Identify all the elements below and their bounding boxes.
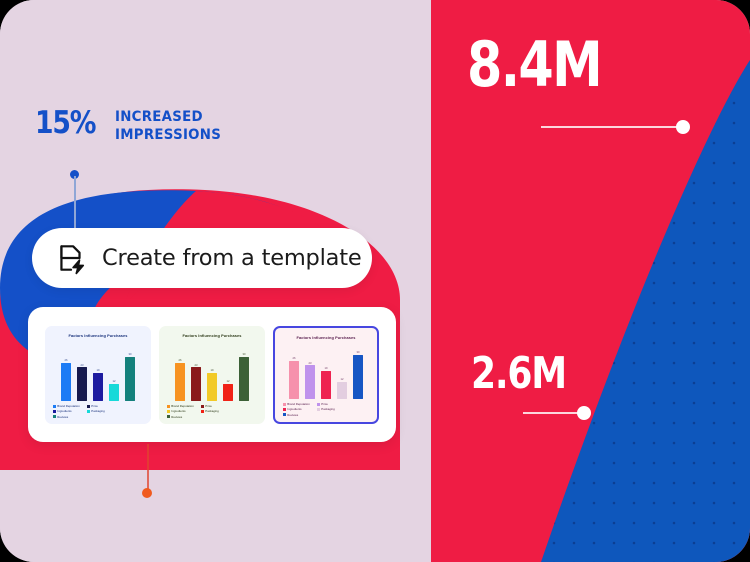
chart-legend-label: Brand Reputation [57, 404, 80, 408]
metric-bottom-value: 2.6M [471, 352, 566, 396]
chart-legend-swatch [283, 408, 286, 411]
chart-legend-swatch [53, 410, 56, 413]
stat-increased-impressions: 15% INCREASED IMPRESSIONS [35, 108, 230, 145]
chart-legend-item: Ingredients [53, 409, 84, 413]
chart-bar-value-label: 26 [179, 359, 182, 362]
chart-legend-item: Packaging [317, 407, 348, 411]
metric-top-connector-line [541, 126, 681, 128]
template-card-chart: 2623191230 [50, 341, 146, 402]
chart-legend-label: Packaging [205, 409, 219, 413]
chart-legend-item: Price [201, 404, 232, 408]
template-card-title: Factors Influencing Purchases [164, 333, 260, 338]
chart-bar [109, 384, 120, 402]
chart-bar [191, 367, 202, 401]
template-card[interactable]: Factors Influencing Purchases 2623191230… [45, 326, 151, 424]
chart-bar [207, 373, 218, 401]
chart-legend-label: Price [205, 404, 212, 408]
chart-legend-label: Brand Reputation [287, 402, 310, 406]
chart-bar-value-label: 23 [309, 362, 312, 365]
chart-bar [223, 384, 234, 402]
metric-bottom-connector-line [523, 412, 583, 414]
template-card-title: Factors Influencing Purchases [280, 335, 372, 340]
chart-legend-label: Ingredients [171, 409, 185, 413]
card-pin-line [147, 444, 149, 492]
template-card-title: Factors Influencing Purchases [50, 333, 146, 338]
stat-pin-line [74, 176, 76, 234]
chart-legend-label: Packaging [91, 409, 105, 413]
chart-bar-value-label: 19 [97, 369, 100, 372]
chart-legend-label: Reviews [57, 415, 68, 419]
chart-legend-item: Packaging [201, 409, 232, 413]
chart-bar-group: 12 [109, 341, 120, 402]
chart-bar-group: 19 [321, 343, 332, 400]
chart-legend-swatch [87, 405, 90, 408]
right-panel: 8.4M 2.6M [431, 0, 750, 562]
chart-legend-item: Brand Reputation [53, 404, 84, 408]
chart-bar-group: 19 [93, 341, 104, 402]
chart-legend-item: Reviews [283, 413, 314, 417]
chart-bar-group: 23 [305, 343, 316, 400]
template-card[interactable]: Factors Influencing Purchases 2623191230… [159, 326, 265, 424]
chart-bar [289, 361, 300, 399]
chart-bar-value-label: 19 [211, 369, 214, 372]
chart-legend-item: Brand Reputation [283, 402, 314, 406]
stat-label: INCREASED IMPRESSIONS [115, 108, 221, 145]
stat-label-line2: IMPRESSIONS [115, 127, 221, 145]
chart-legend-swatch [167, 415, 170, 418]
chart-legend-swatch [167, 405, 170, 408]
chart-bar-value-label: 30 [243, 353, 246, 356]
chart-bar-value-label: 26 [293, 357, 296, 360]
chart-bar-group: 30 [353, 343, 364, 400]
metric-top-connector-dot [676, 120, 690, 134]
chart-legend-label: Price [91, 404, 98, 408]
chart-bar-group: 23 [77, 341, 88, 402]
chart-bar-value-label: 30 [357, 351, 360, 354]
infographic-frame: 15% INCREASED IMPRESSIONS Create from a … [0, 0, 750, 562]
template-bolt-icon [54, 241, 88, 275]
chart-bar-group: 19 [207, 341, 218, 402]
chart-legend-swatch [201, 405, 204, 408]
chart-bar [321, 371, 332, 399]
chart-bar-value-label: 26 [65, 359, 68, 362]
template-card-legend: Brand ReputationPriceIngredientsPackagin… [280, 399, 372, 416]
chart-bar-group: 30 [239, 341, 250, 402]
template-card[interactable]: Factors Influencing Purchases 2623191230… [273, 326, 379, 424]
chart-legend-swatch [317, 408, 320, 411]
chart-legend-label: Packaging [321, 407, 335, 411]
chart-legend-label: Reviews [287, 413, 298, 417]
chart-legend-label: Ingredients [287, 407, 301, 411]
chart-legend-swatch [53, 415, 56, 418]
chart-legend-label: Reviews [171, 415, 182, 419]
chart-legend-label: Brand Reputation [171, 404, 194, 408]
chart-bar [337, 382, 348, 400]
chart-legend-item: Price [87, 404, 118, 408]
chart-bar [77, 367, 88, 401]
card-pin-dot [142, 488, 152, 498]
chart-legend-swatch [283, 403, 286, 406]
metric-bottom-connector-dot [577, 406, 591, 420]
chart-legend-swatch [87, 410, 90, 413]
stat-label-line1: INCREASED [115, 109, 221, 127]
chart-legend-label: Ingredients [57, 409, 71, 413]
chart-legend-item: Packaging [87, 409, 118, 413]
template-card-chart: 2623191230 [280, 343, 372, 400]
chart-legend-item: Reviews [53, 415, 84, 419]
metric-top-value: 8.4M [467, 34, 601, 96]
chart-bar [61, 363, 72, 401]
template-card-chart: 2623191230 [164, 341, 260, 402]
chart-bar-value-label: 12 [227, 380, 230, 383]
stat-percent-value: 15% [35, 108, 95, 139]
chart-legend-swatch [201, 410, 204, 413]
template-card-legend: Brand ReputationPriceIngredientsPackagin… [164, 401, 260, 418]
chart-bar-group: 26 [61, 341, 72, 402]
chart-bar [93, 373, 104, 401]
create-from-template-button[interactable]: Create from a template [32, 228, 372, 288]
chart-legend-item: Price [317, 402, 348, 406]
chart-legend-item: Reviews [167, 415, 198, 419]
chart-bar-group: 23 [191, 341, 202, 402]
chart-legend-swatch [317, 403, 320, 406]
chart-bar-group: 26 [175, 341, 186, 402]
chart-bar-group: 12 [337, 343, 348, 400]
create-from-template-label: Create from a template [102, 245, 362, 271]
chart-legend-swatch [283, 413, 286, 416]
chart-bar-value-label: 23 [81, 364, 84, 367]
chart-bar [125, 357, 136, 401]
chart-bar-value-label: 12 [341, 378, 344, 381]
template-cards-panel: Factors Influencing Purchases 2623191230… [28, 307, 396, 442]
chart-bar [239, 357, 250, 401]
chart-legend-label: Price [321, 402, 328, 406]
chart-bar-group: 12 [223, 341, 234, 402]
chart-legend-item: Ingredients [283, 407, 314, 411]
chart-legend-item: Ingredients [167, 409, 198, 413]
chart-bar [305, 365, 316, 399]
chart-legend-swatch [167, 410, 170, 413]
chart-bar [353, 355, 364, 399]
chart-bar-group: 30 [125, 341, 136, 402]
template-card-legend: Brand ReputationPriceIngredientsPackagin… [50, 401, 146, 418]
chart-bar-value-label: 30 [129, 353, 132, 356]
chart-bar-value-label: 12 [113, 380, 116, 383]
left-panel: 15% INCREASED IMPRESSIONS Create from a … [0, 0, 429, 562]
chart-bar-group: 26 [289, 343, 300, 400]
chart-bar-value-label: 23 [195, 364, 198, 367]
chart-bar [175, 363, 186, 401]
chart-legend-item: Brand Reputation [167, 404, 198, 408]
chart-bar-value-label: 19 [325, 367, 328, 370]
chart-legend-swatch [53, 405, 56, 408]
